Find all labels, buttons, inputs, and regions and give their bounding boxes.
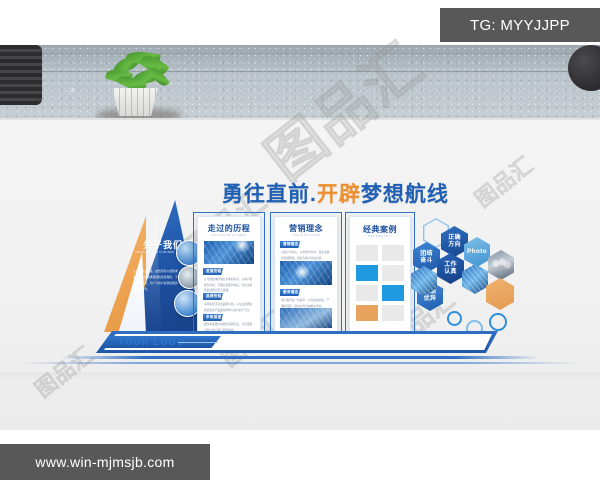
panel-2-subtitle: YING XIAO LI NIAN — [275, 234, 337, 237]
floor-seam — [0, 71, 600, 72]
site-watermark: www.win-mjmsjb.com — [0, 444, 210, 480]
about-us-body: 公司自成立以来，始终坚持以质量求生存、以信誉求发展的经营理念，不断开拓创新，为广… — [133, 268, 179, 293]
headline-part-3: 梦想航线 — [361, 183, 449, 206]
case-tile — [356, 245, 378, 261]
headline: 勇往直前.开辟梦想航线 — [222, 178, 449, 208]
panel-2-title: 营销理念 — [275, 223, 337, 234]
case-tile-blue — [382, 285, 404, 301]
panel-2-tag-1: 营销理念 — [280, 241, 300, 248]
case-tile — [382, 305, 404, 321]
case-tile-orange — [356, 305, 378, 321]
wave-line-2 — [20, 362, 580, 364]
panel-2-text-1: 以客户为中心，以市场为导向，建立高效的营销网络，持续为客户创造价值。 — [281, 250, 331, 261]
panel-1-tag-2: 品牌历程 — [203, 293, 223, 300]
case-tile — [356, 285, 378, 301]
panel-1: 走过的历程 ZOU GUO DE LI CHENG 发展历程 公司始终秉持诚信为… — [197, 216, 261, 332]
wall-base-shadow — [0, 372, 600, 382]
panel-1-tag-3: 未来展望 — [203, 314, 223, 321]
case-tile — [382, 245, 404, 261]
wall-mural-photo: 图品汇 图品汇 图品汇 图品汇 图品汇 图品汇 勇往直前.开辟梦想航线 关于我们… — [0, 0, 600, 480]
panel-2-tag-2: 服务理念 — [280, 289, 300, 296]
your-logo-text: YOUR LOGO — [118, 337, 186, 347]
panel-3: 经典案例 JING DIAN AN LI — [349, 216, 411, 332]
ring-circle — [447, 311, 462, 326]
panel-1-subtitle: ZOU GUO DE LI CHENG — [198, 234, 260, 237]
case-tile — [382, 265, 404, 281]
tg-badge: TG: MYYJJPP — [440, 8, 600, 42]
logo-rule — [178, 342, 218, 343]
wave-line-1 — [60, 356, 540, 359]
panel-2: 营销理念 YING XIAO LI NIAN 营销理念 以客户为中心，以市场为导… — [274, 216, 338, 332]
panel-2-photo-2 — [280, 308, 332, 328]
dark-object-left — [0, 45, 42, 105]
panel-1-tag-1: 发展历程 — [203, 268, 223, 275]
panel-1-title: 走过的历程 — [198, 223, 260, 234]
panel-1-photo — [204, 241, 254, 264]
panel-3-subtitle: JING DIAN AN LI — [350, 235, 410, 238]
floor-seam-upper — [0, 53, 600, 54]
case-tile-blue — [356, 265, 378, 281]
headline-part-2: 开辟 — [317, 183, 361, 206]
panel-2-photo-1 — [280, 261, 332, 285]
ring-circle — [489, 313, 507, 331]
panel-1-text-1: 公司始终秉持诚信为本的宗旨，以客户需求为导向，不断完善服务体系，为企业持续发展奠… — [204, 277, 254, 294]
panel-3-title: 经典案例 — [350, 224, 410, 235]
headline-part-1: 勇往直前. — [222, 183, 317, 206]
